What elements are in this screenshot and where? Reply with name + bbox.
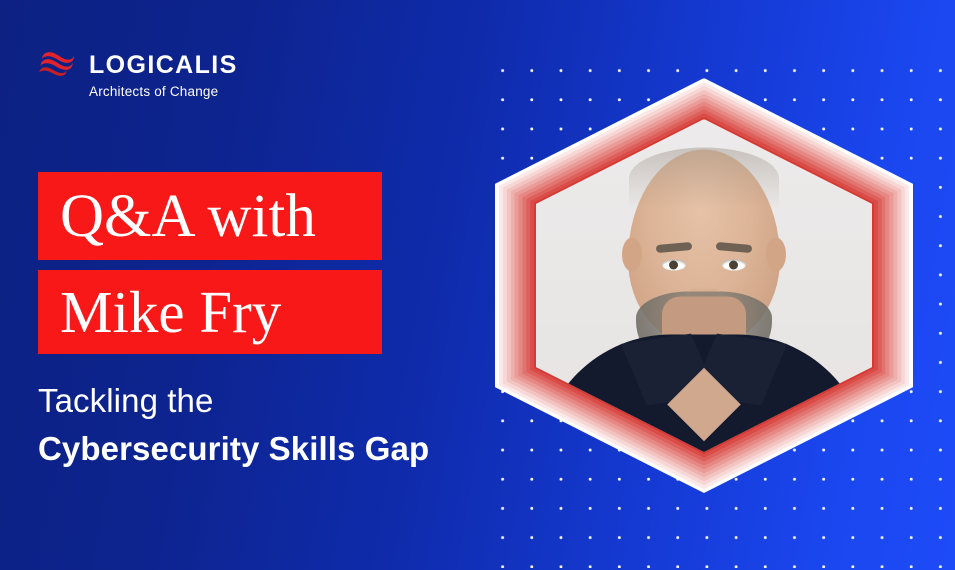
headline-line-2: Mike Fry: [60, 283, 281, 342]
logicalis-wave-logo-icon: [38, 50, 77, 81]
portrait-ear-right: [766, 237, 786, 271]
logicalis-wordmark: LOGICALIS: [89, 51, 238, 80]
portrait-eye-right: [722, 259, 746, 270]
headline-line-1: Q&A with: [60, 186, 316, 247]
logicalis-logo: LOGICALIS Architects of Change: [38, 50, 238, 99]
subtitle: Tackling the Cybersecurity Skills Gap: [38, 381, 429, 470]
subtitle-line-2: Cybersecurity Skills Gap: [38, 429, 429, 469]
subtitle-line-1: Tackling the: [38, 381, 429, 421]
headline-block-one: Q&A with: [38, 172, 382, 260]
portrait-hairline: [629, 147, 779, 209]
promo-graphic: LOGICALIS Architects of Change Q&A with …: [0, 0, 955, 570]
portrait-eye-left: [662, 259, 686, 270]
headline-block-two: Mike Fry: [38, 270, 382, 354]
portrait-ear-left: [622, 237, 642, 271]
portrait-hexagon-frame: [495, 78, 913, 493]
logicalis-tagline: Architects of Change: [89, 84, 238, 99]
